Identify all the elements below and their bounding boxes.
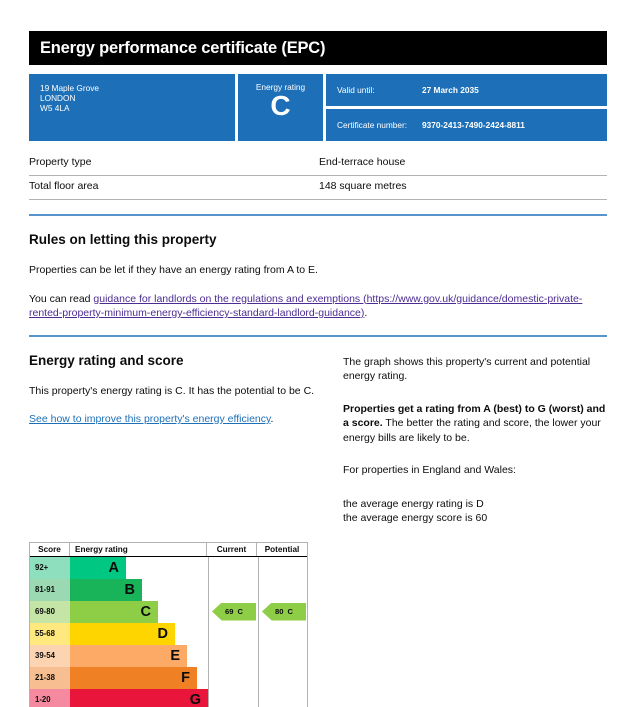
rating-score-left-column: Energy rating and score This property's … xyxy=(29,337,337,526)
average-stats: the average energy rating is D the avera… xyxy=(343,497,607,526)
landlord-guidance-link[interactable]: guidance for landlords on the regulation… xyxy=(29,293,582,320)
potential-rating-band: C xyxy=(287,607,292,616)
address-line-3: W5 4LA xyxy=(40,103,235,113)
property-details-list: Property type End-terrace house Total fl… xyxy=(29,152,607,200)
rating-score-heading: Energy rating and score xyxy=(29,352,337,370)
average-rating-line: the average energy rating is D xyxy=(343,498,484,510)
rules-paragraph-1: Properties can be let if they have an en… xyxy=(29,263,607,278)
total-floor-area-value: 148 square metres xyxy=(319,179,607,193)
valid-until-row: Valid until: 27 March 2035 xyxy=(326,74,607,106)
graph-col-header-score: Score xyxy=(30,543,70,556)
table-row: Total floor area 148 square metres xyxy=(29,176,607,200)
rules-paragraph-2-prefix: You can read xyxy=(29,293,93,305)
band-bar: G xyxy=(70,689,208,707)
graph-col-header-potential: Potential xyxy=(257,543,307,556)
section-divider xyxy=(29,214,607,216)
average-score-line: the average energy score is 60 xyxy=(343,512,487,524)
rating-score-section: Energy rating and score This property's … xyxy=(29,337,607,526)
rules-section-heading: Rules on letting this property xyxy=(29,231,607,249)
graph-band-row: 21-38F xyxy=(30,667,208,689)
property-type-value: End-terrace house xyxy=(319,155,607,169)
energy-rating-value: C xyxy=(238,93,323,119)
certificate-number-row: Certificate number: 9370-2413-7490-2424-… xyxy=(326,109,607,141)
current-rating-arrow: 69C xyxy=(212,603,256,621)
certificate-summary-band: 19 Maple Grove LONDON W5 4LA Energy rati… xyxy=(29,74,607,141)
rules-paragraph-2-suffix: . xyxy=(364,307,367,319)
england-wales-intro: For properties in England and Wales: xyxy=(343,463,607,478)
graph-col-header-current: Current xyxy=(207,543,257,556)
band-score-range: 21-38 xyxy=(30,667,70,689)
valid-until-label: Valid until: xyxy=(337,85,422,95)
address-line-2: LONDON xyxy=(40,93,235,103)
graph-potential-column: 80C xyxy=(259,557,309,707)
band-spacer xyxy=(187,645,208,667)
band-spacer xyxy=(197,667,208,689)
graph-description-paragraph: The graph shows this property's current … xyxy=(343,355,607,384)
certificate-number-label: Certificate number: xyxy=(337,120,422,130)
epc-document-page: Energy performance certificate (EPC) 19 … xyxy=(0,0,627,707)
document-content: Energy performance certificate (EPC) 19 … xyxy=(29,31,607,707)
improve-efficiency-paragraph: See how to improve this property's energ… xyxy=(29,412,337,427)
band-score-range: 69-80 xyxy=(30,601,70,623)
epc-rating-graph: Score Energy rating Current Potential 92… xyxy=(29,542,308,707)
graph-band-list: 92+A81-91B69-80C55-68D39-54E21-38F1-20G xyxy=(30,557,208,707)
potential-rating-score: 80 xyxy=(275,607,283,616)
graph-current-column: 69C xyxy=(209,557,259,707)
band-score-range: 92+ xyxy=(30,557,70,579)
total-floor-area-label: Total floor area xyxy=(29,179,319,193)
property-type-label: Property type xyxy=(29,155,319,169)
graph-col-header-energy-rating: Energy rating xyxy=(70,543,207,556)
band-letter: F xyxy=(181,671,190,685)
band-spacer xyxy=(175,623,208,645)
band-spacer xyxy=(126,557,208,579)
band-bar: E xyxy=(70,645,187,667)
rating-score-left-paragraph: This property's energy rating is C. It h… xyxy=(29,384,337,399)
potential-rating-arrow: 80C xyxy=(262,603,306,621)
certificate-number-value: 9370-2413-7490-2424-8811 xyxy=(422,120,525,130)
certificate-meta: Valid until: 27 March 2035 Certificate n… xyxy=(326,74,607,141)
band-letter: B xyxy=(125,583,135,597)
band-letter: D xyxy=(158,627,168,641)
band-letter: A xyxy=(109,561,119,575)
page-title: Energy performance certificate (EPC) xyxy=(40,39,325,58)
address-line-1: 19 Maple Grove xyxy=(40,83,235,93)
band-bar: F xyxy=(70,667,197,689)
graph-band-row: 39-54E xyxy=(30,645,208,667)
graph-band-row: 69-80C xyxy=(30,601,208,623)
band-spacer xyxy=(142,579,208,601)
rules-paragraph-2: You can read guidance for landlords on t… xyxy=(29,292,607,321)
graph-band-row: 92+A xyxy=(30,557,208,579)
band-letter: C xyxy=(141,605,151,619)
band-score-range: 1-20 xyxy=(30,689,70,707)
valid-until-value: 27 March 2035 xyxy=(422,85,479,95)
band-bar: C xyxy=(70,601,158,623)
band-bar: D xyxy=(70,623,175,645)
improve-link-suffix: . xyxy=(271,413,274,425)
band-score-range: 81-91 xyxy=(30,579,70,601)
graph-body: 92+A81-91B69-80C55-68D39-54E21-38F1-20G … xyxy=(30,557,307,707)
graph-header-row: Score Energy rating Current Potential xyxy=(30,542,307,557)
graph-band-row: 81-91B xyxy=(30,579,208,601)
table-row: Property type End-terrace house xyxy=(29,152,607,176)
band-letter: E xyxy=(170,649,180,663)
rating-score-right-column: The graph shows this property's current … xyxy=(337,337,607,526)
rating-explanation-paragraph: Properties get a rating from A (best) to… xyxy=(343,402,607,446)
band-score-range: 55-68 xyxy=(30,623,70,645)
band-letter: G xyxy=(190,693,201,707)
energy-rating-badge: Energy rating C xyxy=(238,74,323,141)
band-bar: B xyxy=(70,579,142,601)
property-address: 19 Maple Grove LONDON W5 4LA xyxy=(29,74,235,141)
band-bar: A xyxy=(70,557,126,579)
graph-arrow-columns: 69C 80C xyxy=(208,557,309,707)
graph-band-row: 55-68D xyxy=(30,623,208,645)
improve-efficiency-link[interactable]: See how to improve this property's energ… xyxy=(29,413,271,425)
current-rating-band: C xyxy=(237,607,242,616)
band-score-range: 39-54 xyxy=(30,645,70,667)
current-rating-score: 69 xyxy=(225,607,233,616)
band-spacer xyxy=(158,601,208,623)
graph-band-row: 1-20G xyxy=(30,689,208,707)
document-title-bar: Energy performance certificate (EPC) xyxy=(29,31,607,65)
